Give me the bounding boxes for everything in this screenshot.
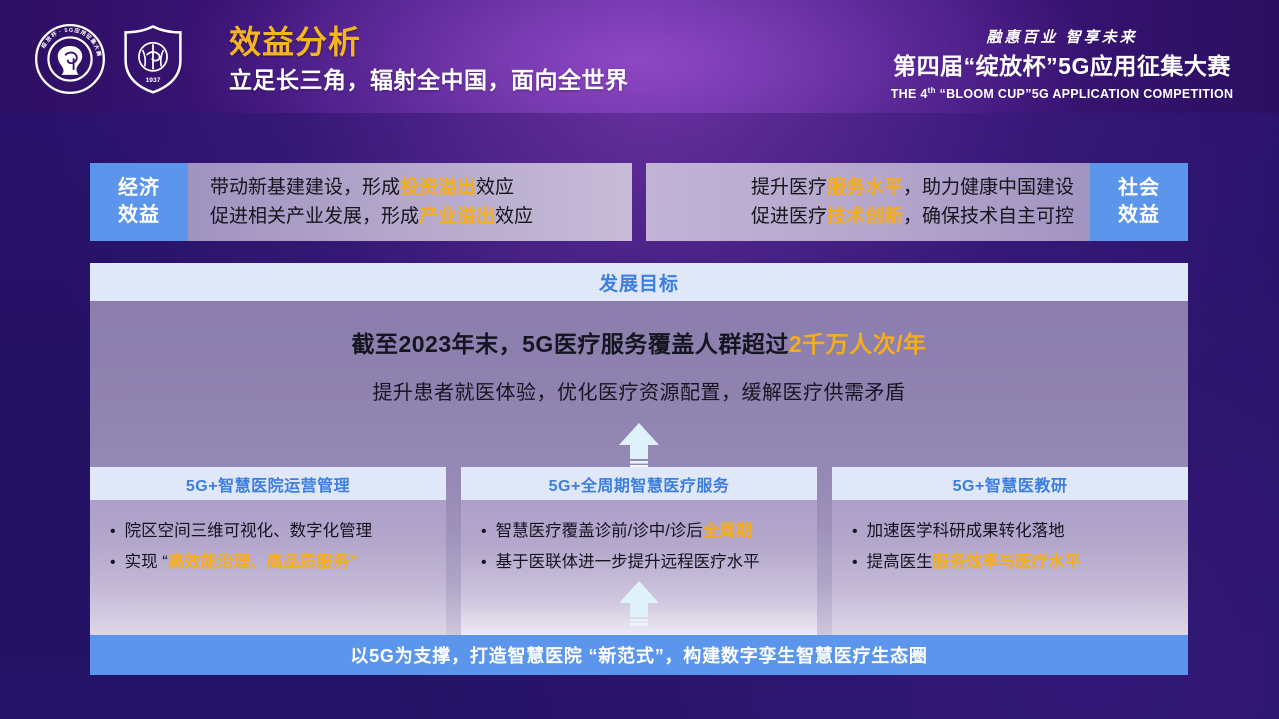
brand-en-sup: th [928,86,936,95]
social-tag-line1: 社会 [1118,175,1160,202]
capability-card-1-body: •院区空间三维可视化、数字化管理 •实现 “高效能治理、高品质服务” [90,500,446,635]
brand-slogan: 融惠百业 智享未来 [882,28,1242,48]
social-benefit-line-2: 促进医疗技术创新，确保技术自主可控 [660,202,1074,231]
up-arrow-icon [617,579,661,631]
c1-b2-b: ” [349,553,357,571]
econ-l2-a: 促进相关产业发展，形成 [210,206,419,227]
capability-card-1-title: 5G+智慧医院运营管理 [90,467,446,500]
capability-card-2-title: 5G+全周期智慧医疗服务 [461,467,817,500]
brand-en-post: “BLOOM CUP”5G APPLICATION COMPETITION [936,87,1234,101]
soc-l2-a: 促进医疗 [751,206,827,227]
econ-l1-b: 效应 [476,177,514,198]
page-header: 绽 放 杯 · 5 G 应 用 征 集 大 赛 1937 效益分 [0,0,1279,113]
bullet-text: 实现 “高效能治理、高品质服务” [125,547,358,578]
bullet-dot-icon: • [852,547,858,578]
development-goal-header: 发展目标 [90,263,1188,301]
list-item: •智慧医疗覆盖诊前/诊中/诊后全周期 [481,516,809,547]
list-item: •院区空间三维可视化、数字化管理 [110,516,438,547]
svg-text:·: · [58,29,62,35]
bullet-dot-icon: • [110,516,116,547]
card-divider [817,467,832,635]
brand-title-text: 第四届“绽放杯”5G应用征集大赛 [893,53,1231,79]
economic-tag-line2: 效益 [118,202,160,229]
economic-benefit-line-2: 促进相关产业发展，形成产业溢出效应 [210,202,618,231]
list-item: •提高医生服务效率与医疗水平 [852,547,1180,578]
competition-brand: 融惠百业 智享未来 第四届“绽放杯”5G应用征集大赛 THE 4th “BLOO… [882,28,1242,103]
social-benefit-tag: 社会 效益 [1090,163,1188,241]
social-benefit-box: 提升医疗服务水平，助力健康中国建设 促进医疗技术创新，确保技术自主可控 社会 效… [646,163,1188,241]
list-item: •实现 “高效能治理、高品质服务” [110,547,438,578]
capability-card-3[interactable]: 5G+智慧医教研 •加速医学科研成果转化落地 •提高医生服务效率与医疗水平 [832,467,1188,635]
c2-b2-a: 基于医联体进一步提升远程医疗水平 [496,553,760,571]
social-tag-line2: 效益 [1118,202,1160,229]
goal-l1-hl: 2千万人次/年 [789,331,927,357]
capability-card-3-title: 5G+智慧医教研 [832,467,1188,500]
economic-benefit-line-1: 带动新基建建设，形成投资溢出效应 [210,173,618,202]
econ-l2-hl: 产业溢出 [419,206,495,227]
list-item: •加速医学科研成果转化落地 [852,516,1180,547]
soc-l2-b: ，确保技术自主可控 [903,206,1074,227]
econ-l2-b: 效应 [495,206,533,227]
economic-benefit-body: 带动新基建建设，形成投资溢出效应 促进相关产业发展，形成产业溢出效应 [188,163,632,241]
c1-b2-a: 实现 “ [125,553,168,571]
c1-b2-hl: 高效能治理、高品质服务 [168,553,350,571]
brand-en-pre: THE 4 [891,87,928,101]
up-arrow-icon [617,421,661,469]
bullet-dot-icon: • [481,516,487,547]
c3-b2-hl: 服务效率与医疗水平 [933,553,1082,571]
card-divider [446,467,461,635]
bullet-text: 院区空间三维可视化、数字化管理 [125,516,373,547]
c2-b1-a: 智慧医疗覆盖诊前/诊中/诊后 [496,522,703,540]
page-title-block: 效益分析 立足长三角，辐射全中国，面向全世界 [229,22,629,96]
up-arrow-to-cards-wrapper [617,579,661,631]
bullet-dot-icon: • [481,547,487,578]
soc-l1-a: 提升医疗 [751,177,827,198]
svg-text:5: 5 [64,28,68,34]
goal-line-2: 提升患者就医体验，优化医疗资源配置，缓解医疗供需矛盾 [373,376,906,405]
soc-l2-hl: 技术创新 [827,206,903,227]
social-benefit-body: 提升医疗服务水平，助力健康中国建设 促进医疗技术创新，确保技术自主可控 [646,163,1090,241]
summary-banner: 以5G为支撑，打造智慧医院 “新范式”，构建数字孪生智慧医疗生态圈 [90,635,1188,675]
page-title: 效益分析 [229,22,629,62]
soc-l1-hl: 服务水平 [827,177,903,198]
economic-benefit-tag: 经济 效益 [90,163,188,241]
university-shield-logo: 1937 [116,22,190,96]
list-item: •基于医联体进一步提升远程医疗水平 [481,547,809,578]
svg-text:G: G [69,28,73,34]
econ-l1-hl: 投资溢出 [400,177,476,198]
bullet-text: 加速医学科研成果转化落地 [867,516,1065,547]
bullet-text: 智慧医疗覆盖诊前/诊中/诊后全周期 [496,516,753,547]
soc-l1-b: ，助力健康中国建设 [903,177,1074,198]
page-subtitle: 立足长三角，辐射全中国，面向全世界 [229,64,629,96]
capability-cards-zone: 5G+智慧医院运营管理 •院区空间三维可视化、数字化管理 •实现 “高效能治理、… [90,467,1188,635]
up-arrow-to-goal-wrapper [617,421,661,469]
header-logos: 绽 放 杯 · 5 G 应 用 征 集 大 赛 1937 [34,22,190,96]
goal-l1-a: 截至2023年末，5G医疗服务覆盖人群超过 [351,331,788,357]
c2-b1-hl: 全周期 [703,522,753,540]
c3-b2-a: 提高医生 [867,553,933,571]
bullet-dot-icon: • [110,547,116,578]
economic-benefit-box: 经济 效益 带动新基建建设，形成投资溢出效应 促进相关产业发展，形成产业溢出效应 [90,163,632,241]
brand-title: 第四届“绽放杯”5G应用征集大赛 [882,51,1242,81]
bullet-text: 提高医生服务效率与医疗水平 [867,547,1082,578]
economic-tag-line1: 经济 [118,175,160,202]
bloom-cup-logo: 绽 放 杯 · 5 G 应 用 征 集 大 赛 [34,23,106,95]
c1-b1-a: 院区空间三维可视化、数字化管理 [125,522,373,540]
capability-card-3-body: •加速医学科研成果转化落地 •提高医生服务效率与医疗水平 [832,500,1188,635]
econ-l1-a: 带动新基建建设，形成 [210,177,400,198]
benefits-row: 经济 效益 带动新基建建设，形成投资溢出效应 促进相关产业发展，形成产业溢出效应… [90,163,1188,241]
development-goal-body: 截至2023年末，5G医疗服务覆盖人群超过2千万人次/年 提升患者就医体验，优化… [90,301,1188,467]
brand-title-en: THE 4th “BLOOM CUP”5G APPLICATION COMPET… [882,82,1242,103]
bullet-text: 基于医联体进一步提升远程医疗水平 [496,547,760,578]
goal-line-1: 截至2023年末，5G医疗服务覆盖人群超过2千万人次/年 [351,325,926,359]
capability-card-1[interactable]: 5G+智慧医院运营管理 •院区空间三维可视化、数字化管理 •实现 “高效能治理、… [90,467,446,635]
social-benefit-line-1: 提升医疗服务水平，助力健康中国建设 [660,173,1074,202]
c3-b1-a: 加速医学科研成果转化落地 [867,522,1065,540]
development-goal-panel: 发展目标 截至2023年末，5G医疗服务覆盖人群超过2千万人次/年 提升患者就医… [90,263,1188,675]
svg-text:1937: 1937 [146,77,161,84]
bullet-dot-icon: • [852,516,858,547]
